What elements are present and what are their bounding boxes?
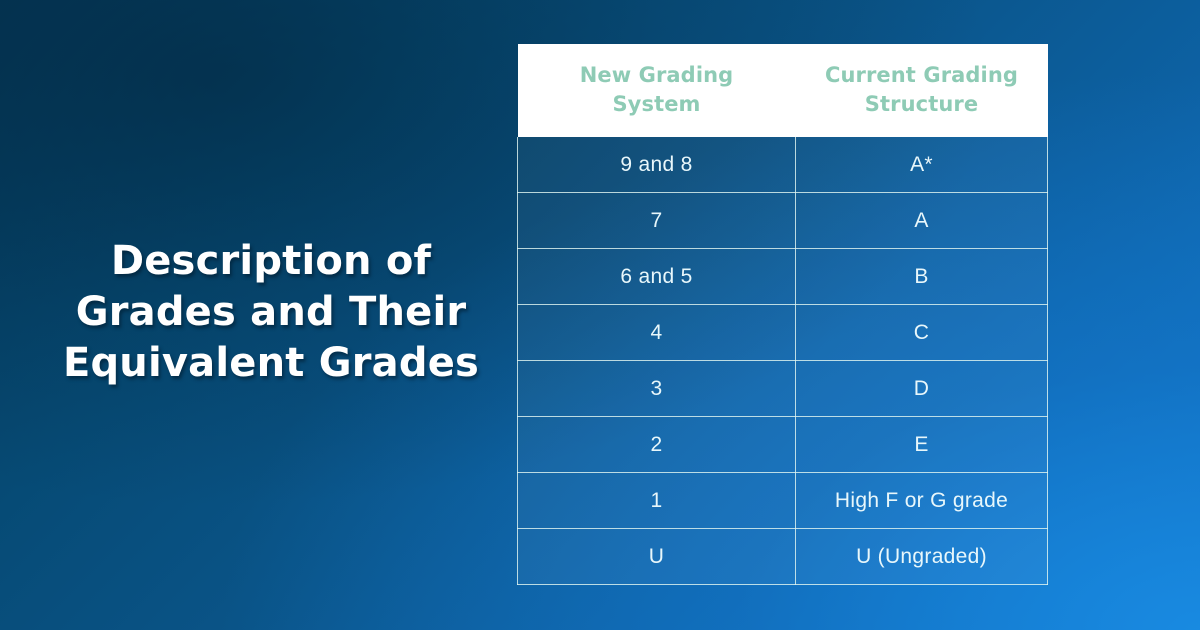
- table-row: 1High F or G grade: [518, 473, 1048, 529]
- table-row: 3D: [518, 361, 1048, 417]
- cell-new-grade: 1: [518, 473, 796, 529]
- cell-new-grade: 6 and 5: [518, 249, 796, 305]
- cell-new-grade: 2: [518, 417, 796, 473]
- cell-current-grade: A: [796, 193, 1048, 249]
- table-header: New Grading System Current Grading Struc…: [518, 44, 1048, 137]
- cell-new-grade: U: [518, 529, 796, 585]
- table-row: 7A: [518, 193, 1048, 249]
- table-body: 9 and 8A*7A6 and 5B4C3D2E1High F or G gr…: [518, 137, 1048, 585]
- table-row: 6 and 5B: [518, 249, 1048, 305]
- title-block: Description of Grades and Their Equivale…: [40, 236, 502, 388]
- cell-new-grade: 3: [518, 361, 796, 417]
- column-header-current-grading-structure: Current Grading Structure: [796, 44, 1048, 137]
- grades-equivalence-table: New Grading System Current Grading Struc…: [517, 44, 1048, 585]
- table-row: 4C: [518, 305, 1048, 361]
- cell-new-grade: 9 and 8: [518, 137, 796, 193]
- page-title: Description of Grades and Their Equivale…: [40, 236, 502, 388]
- column-header-new-grading-system: New Grading System: [518, 44, 796, 137]
- cell-current-grade: U (Ungraded): [796, 529, 1048, 585]
- cell-new-grade: 7: [518, 193, 796, 249]
- table-row: 2E: [518, 417, 1048, 473]
- cell-current-grade: E: [796, 417, 1048, 473]
- cell-current-grade: High F or G grade: [796, 473, 1048, 529]
- cell-current-grade: A*: [796, 137, 1048, 193]
- cell-current-grade: C: [796, 305, 1048, 361]
- cell-new-grade: 4: [518, 305, 796, 361]
- table-row: UU (Ungraded): [518, 529, 1048, 585]
- cell-current-grade: D: [796, 361, 1048, 417]
- table-header-row: New Grading System Current Grading Struc…: [518, 44, 1048, 137]
- cell-current-grade: B: [796, 249, 1048, 305]
- table-row: 9 and 8A*: [518, 137, 1048, 193]
- grading-comparison-poster: Description of Grades and Their Equivale…: [0, 0, 1200, 630]
